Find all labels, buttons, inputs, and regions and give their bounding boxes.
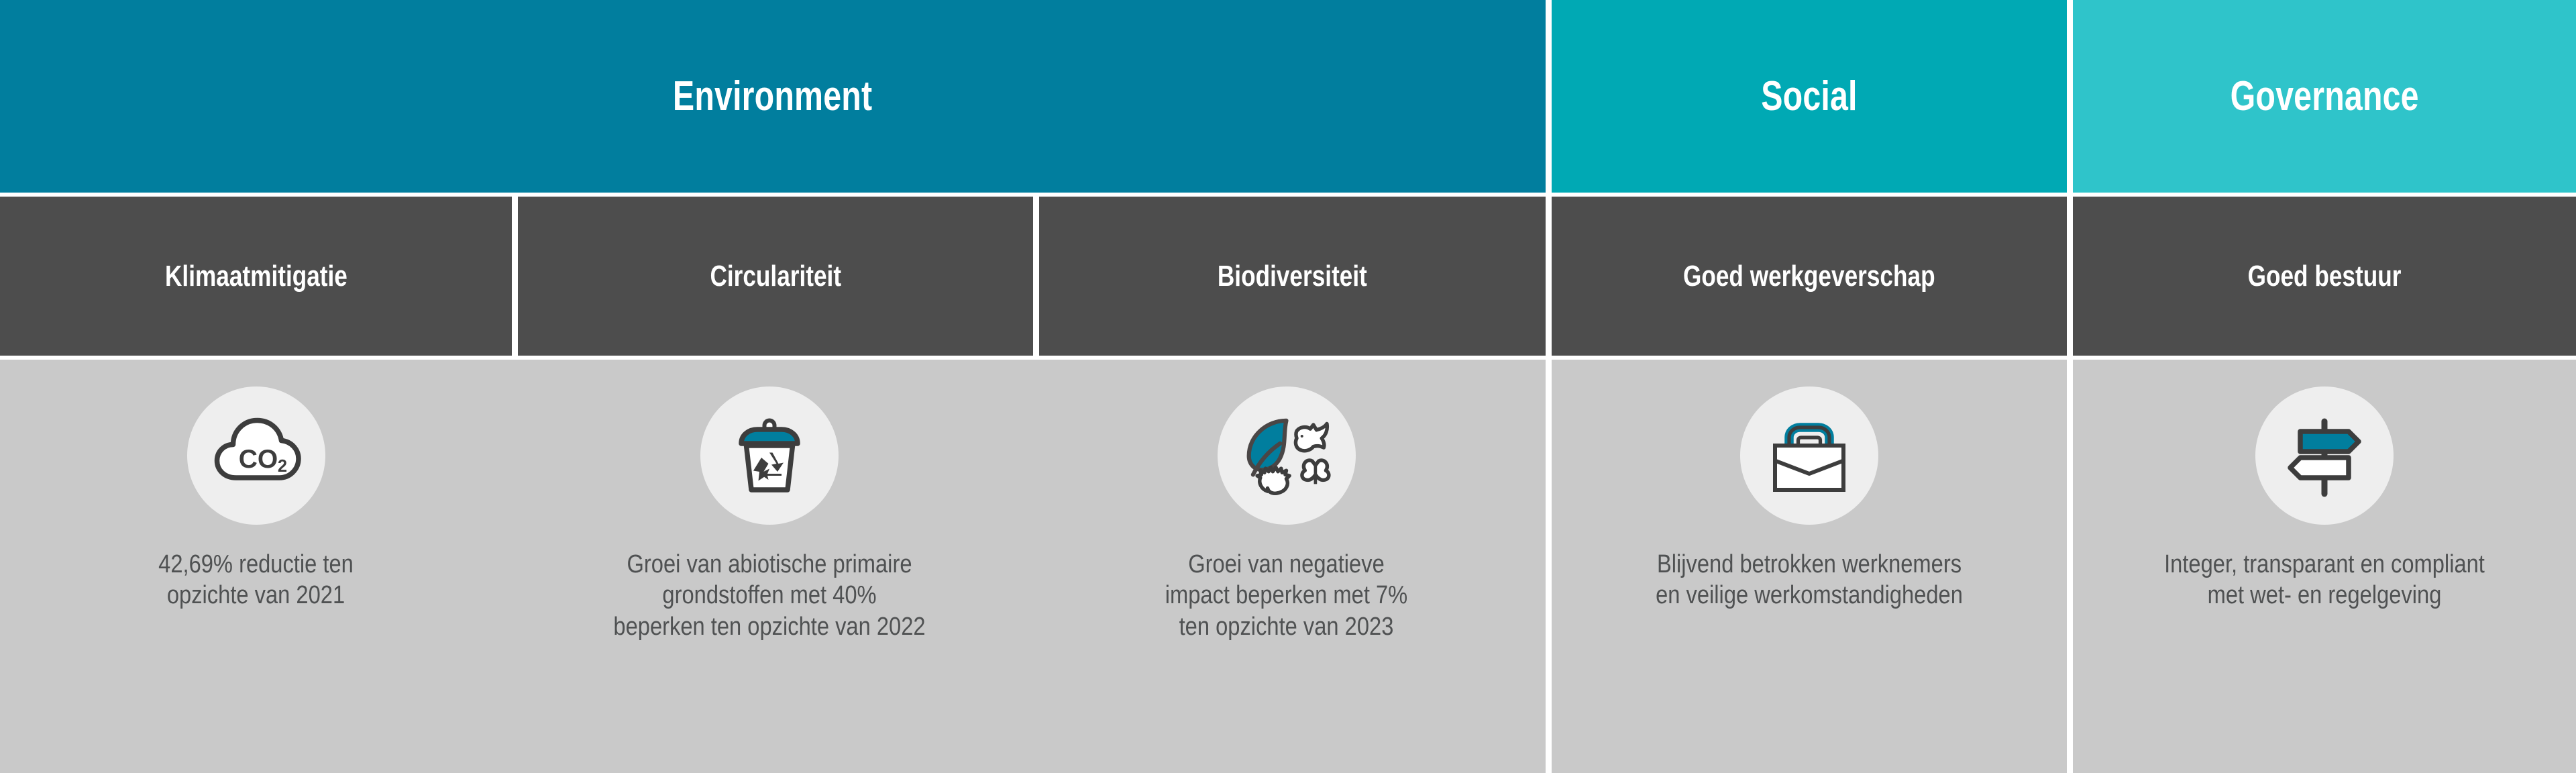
pillar-header-row: Environment Social Governance bbox=[0, 0, 2576, 193]
body-description-goed-bestuur: Integer, transparant en compliant met we… bbox=[2108, 549, 2541, 611]
topic-header-klimaatmitigatie: Klimaatmitigatie bbox=[0, 197, 512, 356]
co2-cloud-icon: CO 2 bbox=[187, 386, 325, 525]
topic-header-goed-werkgeverschap: Goed werkgeverschap bbox=[1552, 197, 2067, 356]
topic-label-klimaatmitigatie: Klimaatmitigatie bbox=[165, 260, 347, 293]
topic-label-circulariteit: Circulariteit bbox=[710, 260, 841, 293]
body-cell-biodiversiteit: Groei van negatieve impact beperken met … bbox=[1027, 360, 1546, 773]
pillar-label-social: Social bbox=[1761, 0, 1857, 193]
signpost-icon bbox=[2255, 386, 2394, 525]
body-group-governance: Integer, transparant en compliant met we… bbox=[2073, 360, 2576, 773]
topic-header-row: Klimaatmitigatie Circulariteit Biodivers… bbox=[0, 197, 2576, 356]
body-description-klimaatmitigatie: 42,69% reductie ten opzichte van 2021 bbox=[36, 549, 476, 611]
body-cell-goed-bestuur: Integer, transparant en compliant met we… bbox=[2073, 360, 2576, 773]
biodiversity-icon bbox=[1218, 386, 1356, 525]
body-cell-circulariteit: Groei van abiotische primaire grondstoff… bbox=[512, 360, 1027, 773]
briefcase-icon bbox=[1740, 386, 1878, 525]
pillar-header-governance: Governance bbox=[2073, 0, 2576, 193]
body-row: CO 2 42,69% reductie ten opzichte van 20… bbox=[0, 360, 2576, 773]
svg-text:CO: CO bbox=[238, 445, 278, 474]
svg-text:2: 2 bbox=[277, 457, 286, 476]
pillar-header-social: Social bbox=[1552, 0, 2067, 193]
body-cell-goed-werkgeverschap: Blijvend betrokken werknemers en veilige… bbox=[1552, 360, 2067, 773]
topic-label-goed-werkgeverschap: Goed werkgeverschap bbox=[1683, 260, 1935, 293]
body-group-environment: CO 2 42,69% reductie ten opzichte van 20… bbox=[0, 360, 1546, 773]
pillar-label-environment: Environment bbox=[673, 0, 872, 193]
body-description-circulariteit: Groei van abiotische primaire grondstoff… bbox=[548, 549, 991, 642]
topic-label-goed-bestuur: Goed bestuur bbox=[2248, 260, 2402, 293]
topic-header-goed-bestuur: Goed bestuur bbox=[2073, 197, 2576, 356]
body-cell-klimaatmitigatie: CO 2 42,69% reductie ten opzichte van 20… bbox=[0, 360, 512, 773]
topic-header-circulariteit: Circulariteit bbox=[518, 197, 1033, 356]
body-description-biodiversiteit: Groei van negatieve impact beperken met … bbox=[1063, 549, 1509, 642]
pillar-header-environment: Environment bbox=[0, 0, 1546, 193]
esg-overview-board: Environment Social Governance Klimaatmit… bbox=[0, 0, 2576, 773]
recycle-bin-icon bbox=[700, 386, 839, 525]
topic-header-biodiversiteit: Biodiversiteit bbox=[1039, 197, 1546, 356]
body-description-goed-werkgeverschap: Blijvend betrokken werknemers en veilige… bbox=[1588, 549, 2031, 611]
body-group-social: Blijvend betrokken werknemers en veilige… bbox=[1552, 360, 2067, 773]
topic-label-biodiversiteit: Biodiversiteit bbox=[1218, 260, 1367, 293]
pillar-label-governance: Governance bbox=[2230, 0, 2418, 193]
